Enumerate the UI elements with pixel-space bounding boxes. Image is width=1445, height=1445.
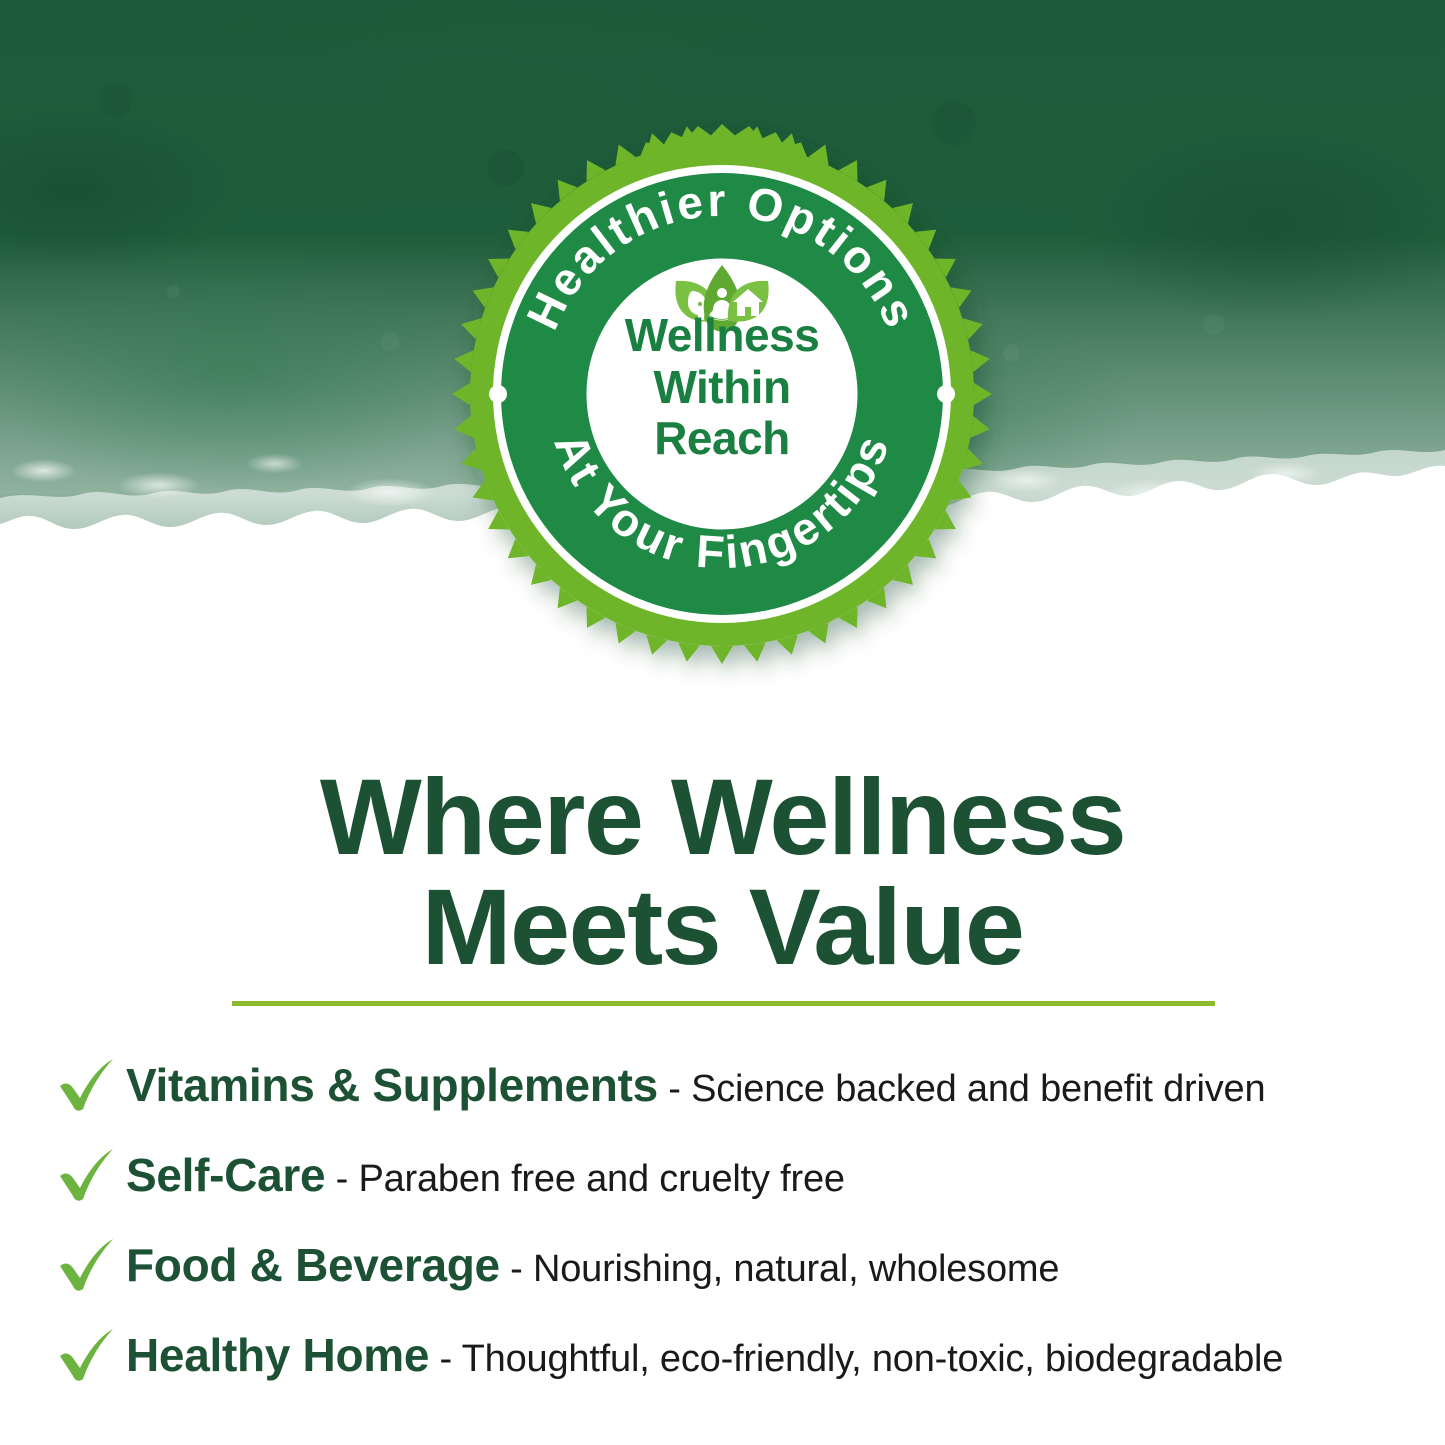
benefits-list: Vitamins & Supplements - Science backed …: [48, 1040, 1438, 1400]
badge-center-line-1: Wellness: [452, 310, 992, 362]
list-item-text: Vitamins & Supplements - Science backed …: [126, 1058, 1265, 1112]
page-headline: Where Wellness Meets Value: [0, 762, 1445, 982]
badge-center-line-2: Within: [452, 362, 992, 414]
list-item-title: Self-Care: [126, 1149, 325, 1201]
list-item: Vitamins & Supplements - Science backed …: [48, 1040, 1438, 1130]
check-icon: [48, 1226, 126, 1304]
list-item-text: Food & Beverage - Nourishing, natural, w…: [126, 1238, 1059, 1292]
check-icon: [48, 1136, 126, 1214]
wellness-badge: Healthier Options At Your Fingertips: [452, 124, 992, 664]
headline-line-2: Meets Value: [0, 872, 1445, 982]
list-item-description: Thoughtful, eco-friendly, non-toxic, bio…: [462, 1338, 1284, 1380]
check-icon: [48, 1316, 126, 1394]
badge-center-wordmark: Wellness Within Reach: [452, 310, 992, 465]
list-item: Healthy Home - Thoughtful, eco-friendly,…: [48, 1310, 1438, 1400]
list-item-title: Food & Beverage: [126, 1239, 500, 1291]
list-item-text: Self-Care - Paraben free and cruelty fre…: [126, 1148, 845, 1202]
headline-divider: [232, 1001, 1215, 1006]
poster-canvas: Healthier Options At Your Fingertips: [0, 0, 1445, 1445]
list-item-description: Nourishing, natural, wholesome: [533, 1248, 1059, 1290]
list-item: Self-Care - Paraben free and cruelty fre…: [48, 1130, 1438, 1220]
badge-center-line-3: Reach: [452, 413, 992, 465]
check-icon: [48, 1046, 126, 1124]
list-item-description: Science backed and benefit driven: [691, 1068, 1265, 1110]
list-item-separator: -: [429, 1338, 461, 1380]
list-item-separator: -: [325, 1158, 358, 1200]
list-item-title: Vitamins & Supplements: [126, 1059, 658, 1111]
list-item-title: Healthy Home: [126, 1329, 429, 1381]
list-item-separator: -: [500, 1248, 533, 1290]
list-item-description: Paraben free and cruelty free: [358, 1158, 844, 1200]
list-item-separator: -: [658, 1068, 691, 1110]
headline-line-1: Where Wellness: [0, 762, 1445, 872]
list-item: Food & Beverage - Nourishing, natural, w…: [48, 1220, 1438, 1310]
list-item-text: Healthy Home - Thoughtful, eco-friendly,…: [126, 1328, 1283, 1382]
